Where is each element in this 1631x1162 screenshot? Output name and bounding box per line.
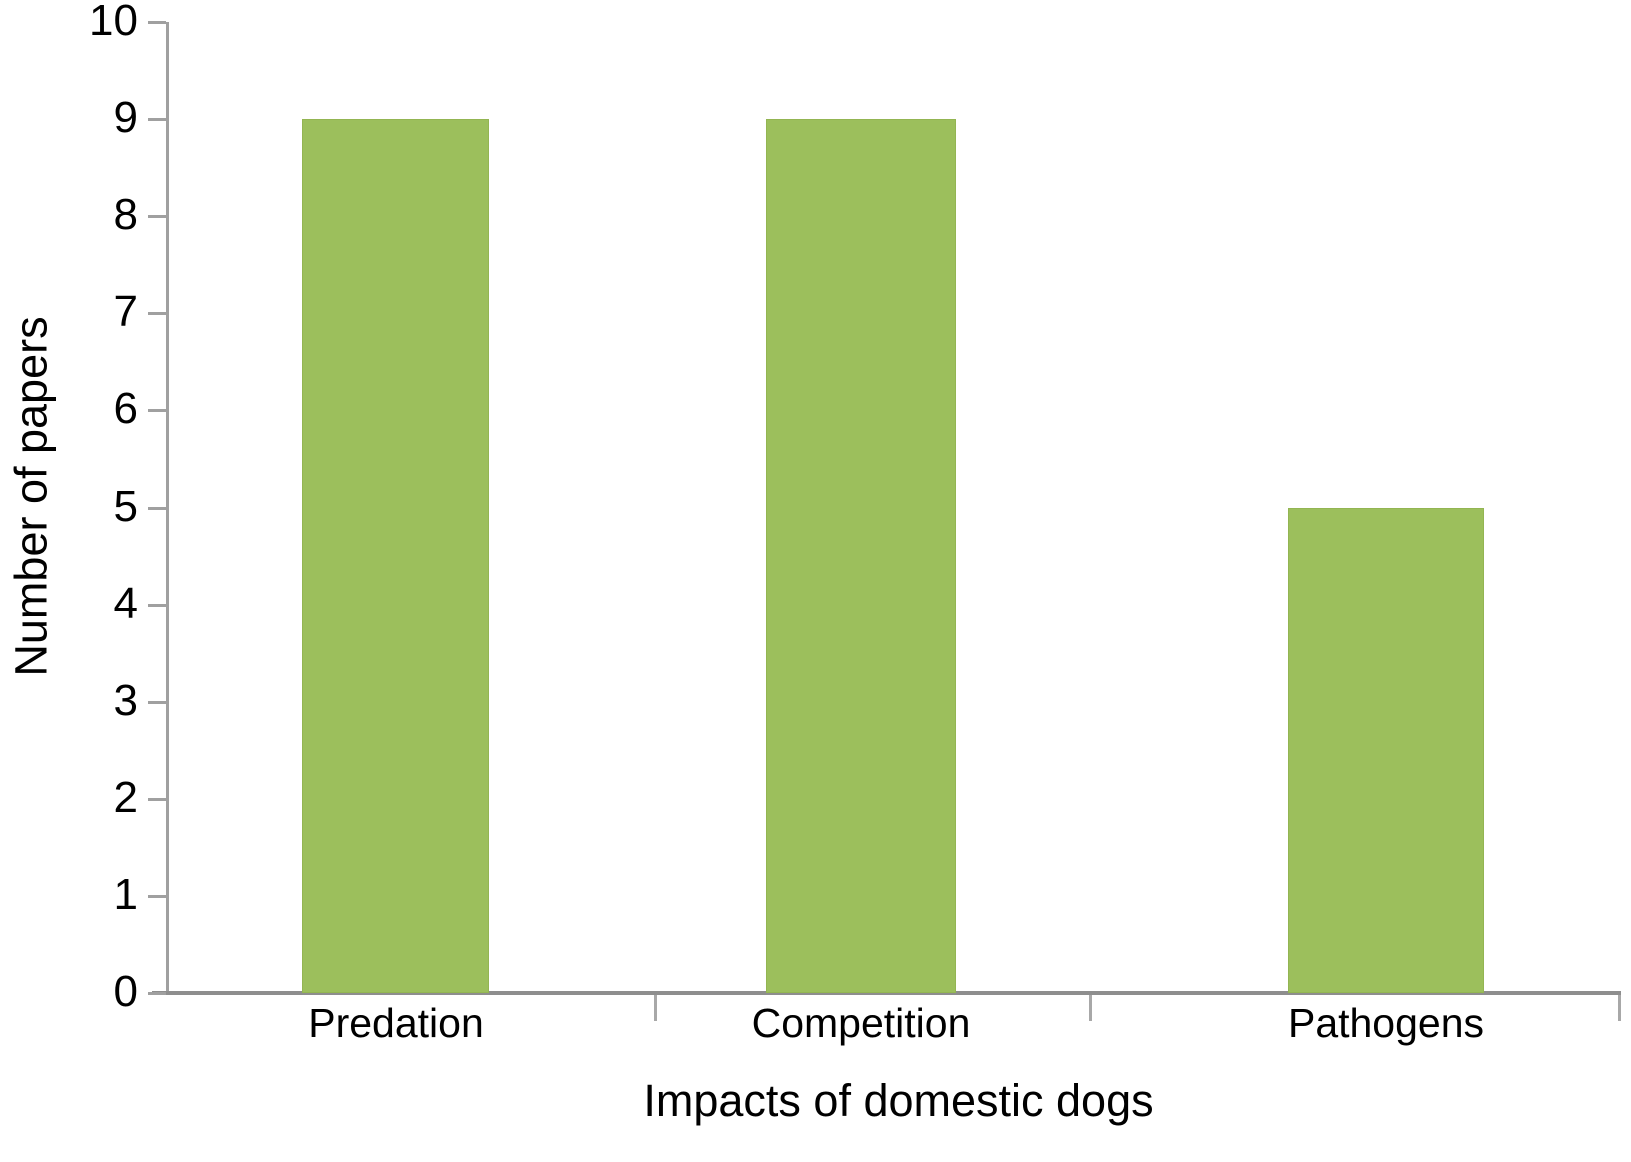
y-axis-tick-label-8: 8 [18, 193, 138, 237]
x-axis-title: Impacts of domestic dogs [166, 1078, 1631, 1123]
y-axis-tick-1 [148, 895, 166, 898]
y-axis-tick-label-1: 1 [18, 873, 138, 917]
y-axis-tick-label-7: 7 [18, 290, 138, 334]
x-axis-category-label-competition: Competition [641, 1003, 1081, 1044]
y-axis-tick-label-0: 0 [18, 970, 138, 1014]
y-axis-tick-2 [148, 798, 166, 801]
y-axis-tick-9 [148, 118, 166, 121]
y-axis-tick-label-9: 9 [18, 96, 138, 140]
y-axis-tick-label-3: 3 [18, 679, 138, 723]
y-axis-tick-label-2: 2 [18, 776, 138, 820]
y-axis-line [166, 22, 169, 993]
bar-predation [302, 119, 489, 993]
y-axis-tick-7 [148, 312, 166, 315]
y-axis-tick-3 [148, 701, 166, 704]
y-axis-tick-6 [148, 409, 166, 412]
x-axis-tick-separator-3 [1618, 995, 1621, 1021]
y-axis-tick-0 [148, 992, 166, 995]
y-axis-tick-10 [148, 21, 166, 24]
y-axis-tick-5 [148, 507, 166, 510]
bar-chart-figure: Number of papers 109876543210 PredationC… [0, 0, 1631, 1162]
x-axis-tick-separator-2 [1089, 995, 1092, 1021]
y-axis-tick-label-6: 6 [18, 387, 138, 431]
bar-competition [766, 119, 956, 993]
y-axis-tick-label-10: 10 [18, 0, 138, 43]
y-axis-tick-4 [148, 604, 166, 607]
y-axis-tick-label-4: 4 [18, 582, 138, 626]
y-axis-tick-label-5: 5 [18, 485, 138, 529]
y-axis-tick-8 [148, 215, 166, 218]
x-axis-category-label-pathogens: Pathogens [1166, 1003, 1606, 1044]
bar-pathogens [1288, 508, 1484, 994]
x-axis-category-label-predation: Predation [176, 1003, 616, 1044]
